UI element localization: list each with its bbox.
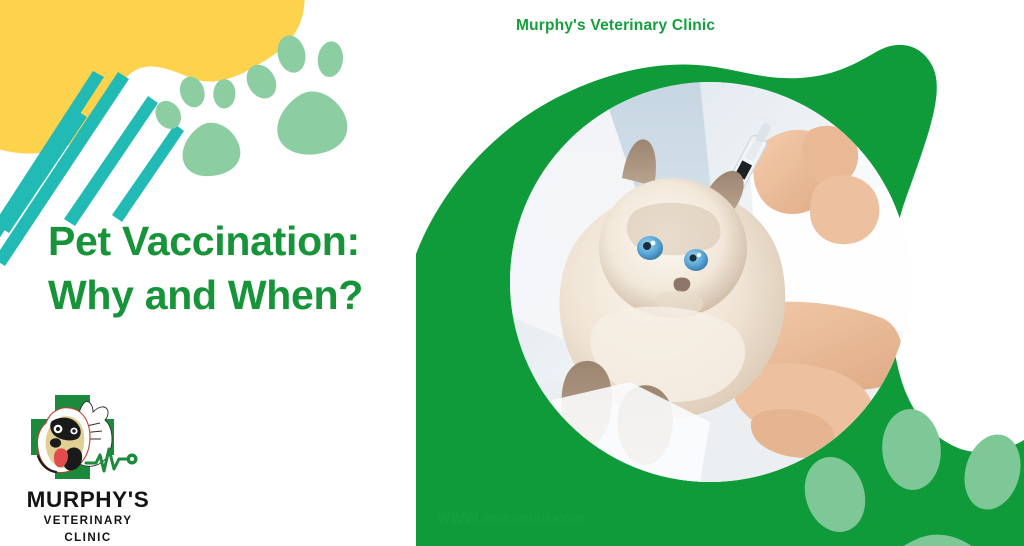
teal-stripe-6 [112, 124, 184, 222]
teal-stripe-5 [64, 96, 158, 226]
logo-subtitle-text: VETERINARY CLINIC [18, 512, 158, 546]
paw-print-top-left-small [146, 67, 252, 184]
clinic-name-header: Murphy's Veterinary Clinic [516, 17, 715, 35]
promotional-banner: Murphy's Veterinary Clinic Pet Vaccinati… [0, 0, 1024, 546]
logo-mark-icon [24, 393, 142, 489]
website-url[interactable]: WWW.mvcoman.com [437, 511, 584, 527]
logo-name-text: MURPHY'S [18, 488, 158, 512]
hero-photo [510, 82, 910, 482]
page-title-line-2: Why and When? [48, 268, 478, 322]
page-title: Pet Vaccination: Why and When? [48, 214, 478, 322]
logo-wordmark: MURPHY'S VETERINARY CLINIC [18, 488, 158, 546]
page-title-line-1: Pet Vaccination: [48, 218, 360, 264]
paw-print-top-left-large [236, 26, 359, 163]
brand-logo[interactable]: MURPHY'S VETERINARY CLINIC [18, 393, 158, 538]
cat-eye-right [684, 249, 708, 271]
yellow-blob-shape [0, 0, 305, 154]
